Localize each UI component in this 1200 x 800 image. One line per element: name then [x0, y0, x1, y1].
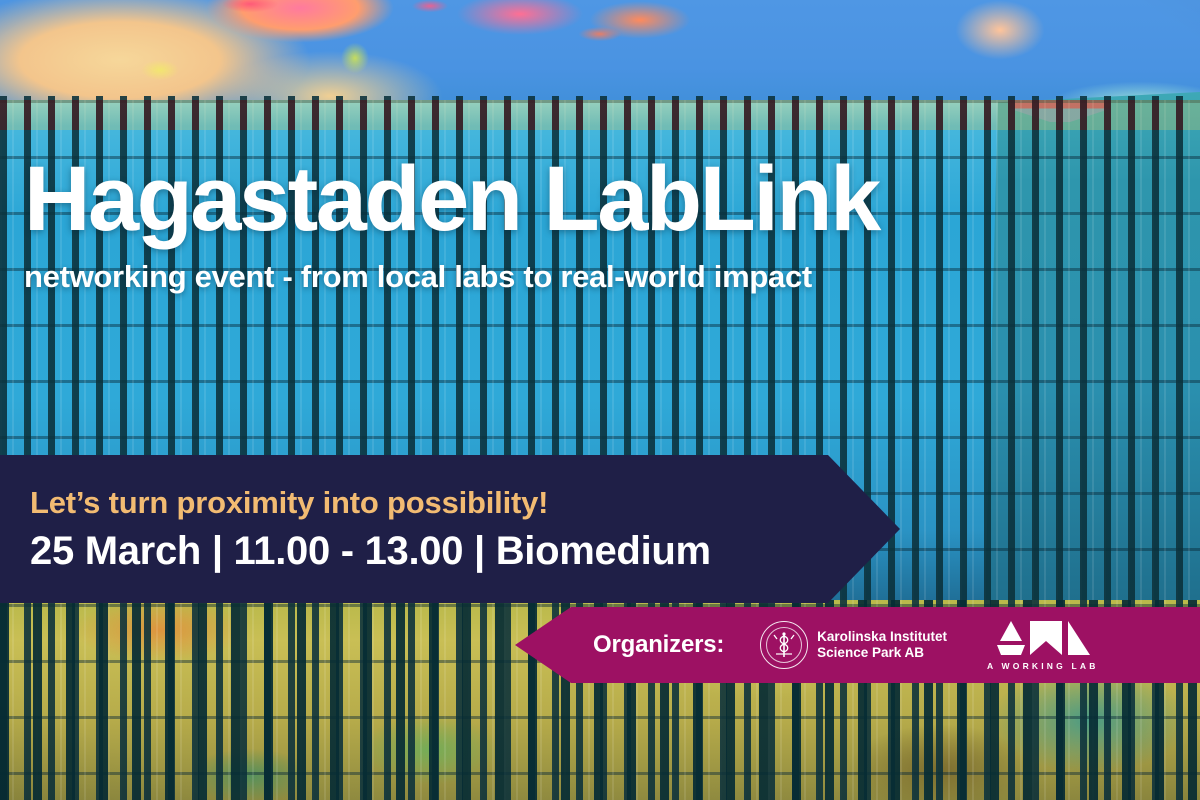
- a-working-lab-logo: A WORKING LAB: [987, 619, 1099, 671]
- karolinska-line-1: Karolinska Institutet: [817, 629, 947, 645]
- event-poster: Hagastaden LabLink networking event - fr…: [0, 0, 1200, 800]
- headline-block: Hagastaden LabLink networking event - fr…: [24, 155, 1174, 295]
- organizers-bar: Organizers: Karolinska Institutet Scienc…: [515, 607, 1200, 683]
- event-details-banner: Let’s turn proximity into possibility! 2…: [0, 455, 900, 603]
- poster-title: Hagastaden LabLink: [24, 155, 1174, 243]
- tagline-text: Let’s turn proximity into possibility!: [30, 485, 900, 521]
- karolinska-line-2: Science Park AB: [817, 645, 947, 661]
- organizers-label: Organizers:: [593, 631, 724, 659]
- date-time-venue-text: 25 March | 11.00 - 13.00 | Biomedium: [30, 529, 900, 573]
- poster-subtitle: networking event - from local labs to re…: [24, 259, 1174, 295]
- karolinska-wordmark: Karolinska Institutet Science Park AB: [817, 629, 947, 662]
- a-working-lab-wordmark: A WORKING LAB: [987, 661, 1099, 671]
- karolinska-logo: Karolinska Institutet Science Park AB: [760, 621, 947, 669]
- karolinska-seal-icon: [760, 621, 808, 669]
- a-working-lab-mark-icon: [994, 619, 1092, 657]
